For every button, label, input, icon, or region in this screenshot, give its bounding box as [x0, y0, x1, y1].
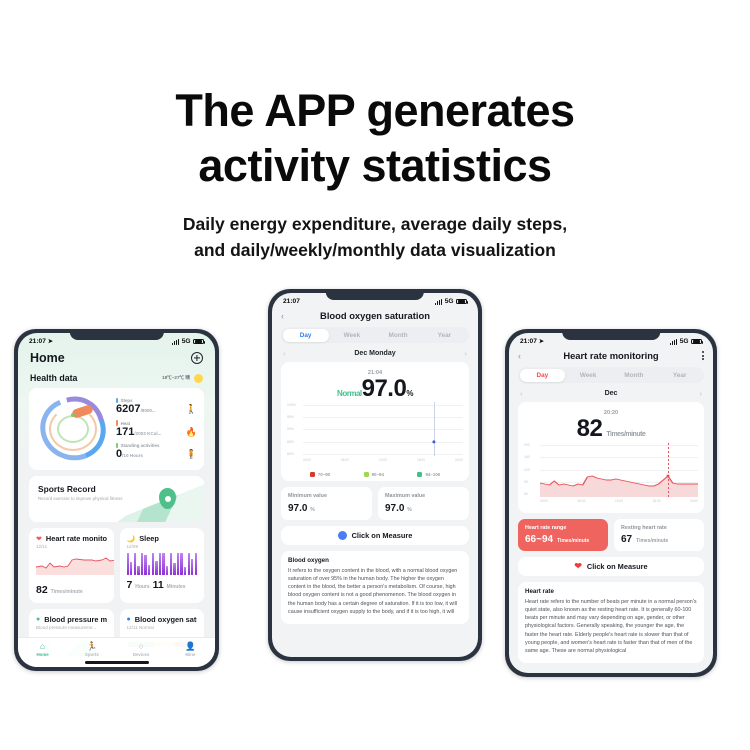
weather-text: 18℃~27℃ 晴: [162, 375, 190, 381]
legend-label-mid: 90~94: [372, 472, 384, 477]
data-point-marker: [433, 440, 436, 443]
legend-swatch-mid: [364, 472, 369, 477]
back-icon[interactable]: ‹: [518, 351, 530, 361]
sleep-minutes-unit: Minutes: [167, 584, 186, 590]
signal-icon: [172, 339, 180, 345]
x-tick-2: 12:00: [379, 458, 387, 468]
segment-day[interactable]: Day: [283, 329, 329, 342]
y-tick-0: 100%: [287, 403, 296, 407]
x-tick-4: 24:00: [690, 499, 698, 509]
period-segmented-control: Day Week Month Year: [518, 367, 704, 383]
heart-rate-card-unit: Times/minute: [51, 589, 83, 595]
maximum-value-label: Maximum value: [385, 493, 462, 500]
home-icon: ⌂: [18, 642, 67, 651]
steps-value-wrap: 6207/8000...: [116, 404, 156, 415]
resting-heart-rate-wrap: 67 Times/minute: [621, 534, 697, 545]
blood-oxygen-band-ticks: ...: [127, 632, 198, 636]
gridline: [303, 442, 463, 443]
heart-icon: ❤: [36, 535, 42, 543]
current-date-label: Dec: [605, 390, 618, 397]
blood-oxygen-icon: ●: [127, 616, 131, 623]
battery-icon: [193, 339, 204, 345]
maximum-value: 97.0: [385, 503, 404, 514]
heart-rate-sparkline: [36, 553, 114, 575]
heart-rate-card-title: Heart rate monitoring: [46, 534, 107, 543]
resting-heart-rate-card: Resting heart rate 67 Times/minute: [614, 519, 704, 551]
y-tick-3: 90: [524, 480, 528, 484]
heat-label: Heat: [121, 421, 131, 426]
heart-measure-icon: ❤: [574, 562, 582, 571]
spo2-stats-row: Minimum value 97.0 % Maximum value 97.0 …: [281, 487, 469, 519]
signal-icon: [435, 299, 443, 305]
sleep-card-date: 12/09: [127, 544, 198, 549]
legend-label-low: 70~90: [318, 472, 330, 477]
x-axis: 00:00 06:00 12:00 18:00 24:00: [540, 499, 698, 509]
segment-year[interactable]: Year: [421, 329, 467, 342]
walking-icon: 🚶: [186, 404, 197, 415]
heart-rate-range-unit: Times/minute: [557, 538, 589, 544]
plot-area: [303, 402, 463, 456]
y-tick-1: 95%: [287, 415, 294, 419]
gridline: [303, 454, 463, 455]
metric-row-heat: Heat 171/2003 KCal... 🔥: [116, 420, 197, 438]
description-text: Heart rate refers to the number of beats…: [525, 598, 697, 655]
legend-swatch-low: [310, 472, 315, 477]
data-point-marker: [666, 475, 669, 478]
location-arrow-icon: ➤: [48, 338, 53, 345]
spo2-chart-card: 21:04 Normal97.0% 100% 95% 90% 85% 80%: [281, 362, 469, 481]
resting-heart-rate-label: Resting heart rate: [621, 525, 697, 532]
tab-mine-label: Mine: [166, 652, 215, 657]
minimum-value: 97.0: [288, 503, 307, 514]
heart-rate-range-wrap: 66~94 Times/minute: [525, 534, 601, 545]
add-icon[interactable]: [191, 352, 203, 364]
reading-value: 97.0: [362, 375, 407, 402]
heart-rate-area-series: [540, 443, 698, 497]
heart-rate-card[interactable]: ❤ Heart rate monitoring 12/11 82 Times/m…: [29, 528, 114, 603]
heat-value-wrap: 171/2003 KCal...: [116, 427, 161, 438]
resting-heart-rate-value: 67: [621, 534, 632, 545]
blood-pressure-icon: ●: [36, 616, 40, 623]
phone-left: 21:07 ➤ 5G Home Health data 18℃~27℃ 晴: [14, 329, 219, 671]
standing-goal: /10 Hours: [122, 453, 143, 458]
minimum-value-wrap: 97.0 %: [288, 503, 365, 514]
spo2-measure-icon: [338, 531, 347, 540]
tab-home-label: Home: [18, 652, 67, 657]
network-label: 5G: [182, 338, 191, 345]
heart-rate-description: Heart rate Heart rate refers to the numb…: [518, 582, 704, 663]
y-tick-4: 60: [524, 492, 528, 496]
sports-icon: 🏃: [67, 642, 116, 651]
legend-item-mid: 90~94: [364, 472, 384, 477]
blood-pressure-card-subtitle: Blood pressure measureme...: [36, 625, 107, 630]
x-tick-4: 24:00: [455, 458, 463, 468]
sun-icon: [194, 374, 203, 383]
resting-heart-rate-unit: Times/minute: [636, 538, 668, 544]
signal-icon: [670, 339, 678, 345]
headline-line-1: The APP generates: [175, 85, 574, 136]
kebab-menu-icon[interactable]: [692, 350, 704, 361]
steps-goal: /8000...: [140, 408, 155, 413]
reading-status-badge: Normal: [337, 389, 362, 398]
sleep-hours-unit: Hours: [135, 584, 149, 590]
steps-value: 6207: [116, 403, 140, 415]
gridline: [303, 429, 463, 430]
metric-row-standing: Standing activities 0/10 Hours 🧍: [116, 443, 197, 461]
home-header: Home: [18, 347, 215, 365]
heart-rate-chart-card: 20:20 82Times/minute 200 160 120 90 60: [518, 402, 704, 512]
status-time: 21:07: [283, 298, 300, 305]
page-title: Heart rate monitoring: [530, 350, 692, 361]
gridline: [303, 405, 463, 406]
reading-value-row: Normal97.0%: [287, 376, 463, 402]
moon-icon: 🌙: [127, 535, 136, 543]
reading-unit: Times/minute: [606, 431, 645, 438]
x-tick-1: 06:00: [578, 499, 586, 509]
legend-item-high: 94~100: [417, 472, 440, 477]
blood-oxygen-description: Blood oxygen It refers to the oxygen con…: [281, 551, 469, 624]
health-data-label: Health data: [30, 373, 77, 383]
tab-sports-label: Sports: [67, 652, 116, 657]
weather-info: 18℃~27℃ 晴: [162, 374, 203, 383]
home-title: Home: [30, 351, 65, 365]
segment-month[interactable]: Month: [375, 329, 421, 342]
status-time: 21:07: [520, 338, 537, 345]
headline-line-2: activity statistics: [0, 139, 750, 194]
heart-rate-stats-row: Heart rate range 66~94 Times/minute Rest…: [518, 519, 704, 551]
headline-block: The APP generates activity statistics Da…: [0, 84, 750, 263]
back-icon[interactable]: ‹: [281, 311, 293, 321]
page-title: Blood oxygen saturation: [293, 310, 457, 321]
sleep-card-title: Sleep: [139, 534, 159, 543]
devices-icon: ○: [117, 642, 166, 651]
phone-center-screen: 21:07 5G ‹ Blood oxygen saturation Day W…: [272, 293, 478, 657]
spo2-chart: 100% 95% 90% 85% 80%: [287, 402, 463, 468]
subtitle-line-2: and daily/weekly/monthly data visualizat…: [0, 237, 750, 263]
y-tick-3: 85%: [287, 440, 294, 444]
y-axis: 200 160 120 90 60: [524, 443, 540, 497]
battery-icon: [456, 299, 467, 305]
measure-button[interactable]: ❤ Click on Measure: [518, 557, 704, 576]
segment-day[interactable]: Day: [520, 369, 566, 382]
heat-goal: /2003 KCal...: [134, 431, 161, 436]
blood-oxygen-card-date: 12/11 Normal: [127, 625, 198, 630]
app-bar: ‹ Blood oxygen saturation: [272, 307, 478, 327]
tab-sports[interactable]: 🏃 Sports: [67, 642, 116, 658]
tab-devices[interactable]: ○ Devices: [117, 642, 166, 658]
blood-oxygen-card-title: Blood oxygen satur: [135, 615, 197, 624]
maximum-value-unit: %: [407, 507, 411, 513]
minimum-value-label: Minimum value: [288, 493, 365, 500]
subtitle-line-1: Daily energy expenditure, average daily …: [0, 211, 750, 237]
x-tick-3: 18:00: [653, 499, 661, 509]
status-time: 21:07: [29, 338, 46, 345]
phone-right: 21:07 ➤ 5G ‹ Heart rate monitoring Day W…: [505, 329, 717, 677]
app-bar: ‹ Heart rate monitoring: [509, 347, 713, 367]
heart-rate-reading: 20:20 82Times/minute: [524, 408, 698, 442]
phone-notch: [69, 329, 163, 340]
heat-value: 171: [116, 426, 134, 438]
segment-year[interactable]: Year: [657, 369, 703, 382]
sleep-minutes-value: 11: [153, 579, 164, 591]
description-text: It refers to the oxygen content in the b…: [288, 567, 462, 616]
sleep-card[interactable]: 🌙 Sleep 12/09 7 Hours 11: [120, 528, 205, 603]
x-tick-2: 12:00: [615, 499, 623, 509]
promo-page: The APP generates activity statistics Da…: [0, 0, 750, 750]
sleep-bars-chart: [127, 553, 198, 575]
phone-left-screen: 21:07 ➤ 5G Home Health data 18℃~27℃ 晴: [18, 333, 215, 667]
reading-unit: %: [406, 389, 413, 398]
spo2-reading: 21:04 Normal97.0%: [287, 368, 463, 402]
standing-ring-cap: [71, 413, 75, 417]
sports-record-card[interactable]: Sports Record Record exercise to improve…: [29, 476, 204, 522]
prev-date-arrow[interactable]: ‹: [520, 389, 523, 398]
maximum-value-card: Maximum value 97.0 %: [378, 487, 469, 519]
steps-label: Steps: [121, 398, 133, 403]
next-date-arrow[interactable]: ›: [464, 349, 467, 358]
activity-rings: [36, 396, 110, 462]
flame-icon: 🔥: [186, 427, 197, 438]
prev-date-arrow[interactable]: ‹: [283, 349, 286, 358]
x-tick-3: 18:00: [417, 458, 425, 468]
heart-rate-card-value: 82: [36, 584, 48, 596]
tab-home[interactable]: ⌂ Home: [18, 642, 67, 658]
x-tick-0: 00:00: [303, 458, 311, 468]
description-title: Blood oxygen: [288, 557, 462, 564]
heart-rate-chart: 200 160 120 90 60: [524, 443, 698, 509]
heart-rate-card-date: 12/11: [36, 544, 107, 549]
y-tick-0: 200: [524, 443, 530, 447]
legend-swatch-high: [417, 472, 422, 477]
metric-row-steps: Steps 6207/8000... 🚶: [116, 398, 197, 416]
summary-cards-row-1: ❤ Heart rate monitoring 12/11 82 Times/m…: [29, 528, 204, 603]
y-tick-2: 90%: [287, 427, 294, 431]
gridline: [303, 417, 463, 418]
chart-legend: 70~90 90~94 94~100: [287, 468, 463, 477]
network-label: 5G: [680, 338, 689, 345]
maximum-value-wrap: 97.0 %: [385, 503, 462, 514]
tab-mine[interactable]: 👤 Mine: [166, 642, 215, 658]
heart-rate-range-value: 66~94: [525, 534, 553, 545]
tab-devices-label: Devices: [117, 652, 166, 657]
reading-value: 82: [577, 415, 603, 442]
minimum-value-card: Minimum value 97.0 %: [281, 487, 372, 519]
period-segmented-control: Day Week Month Year: [281, 327, 469, 343]
heart-rate-range-label: Heart rate range: [525, 525, 601, 532]
date-navigator: ‹ Dec ›: [509, 383, 713, 398]
phone-center: 21:07 5G ‹ Blood oxygen saturation Day W…: [268, 289, 482, 661]
legend-label-high: 94~100: [425, 472, 440, 477]
description-title: Heart rate: [525, 588, 697, 595]
x-axis: 00:00 06:00 12:00 18:00 24:00: [303, 458, 463, 468]
segment-week[interactable]: Week: [329, 329, 375, 342]
x-tick-1: 06:00: [341, 458, 349, 468]
measure-button-label: Click on Measure: [587, 562, 648, 571]
reading-value-row: 82Times/minute: [524, 416, 698, 442]
phone-notch: [326, 289, 424, 300]
date-navigator: ‹ Dec Monday ›: [272, 343, 478, 358]
y-tick-4: 80%: [287, 452, 294, 456]
heart-rate-range-card: Heart rate range 66~94 Times/minute: [518, 519, 608, 551]
phone-right-screen: 21:07 ➤ 5G ‹ Heart rate monitoring Day W…: [509, 333, 713, 673]
selection-line: [668, 443, 669, 497]
phone-notch: [562, 329, 660, 340]
minimum-value-unit: %: [310, 507, 314, 513]
measure-button-label: Click on Measure: [352, 531, 413, 540]
next-date-arrow[interactable]: ›: [700, 389, 703, 398]
location-arrow-icon: ➤: [539, 338, 544, 345]
standing-value-wrap: 0/10 Hours: [116, 449, 159, 460]
current-date-label: Dec Monday: [354, 350, 395, 357]
page-subtitle: Daily energy expenditure, average daily …: [0, 211, 750, 264]
standing-label: Standing activities: [121, 443, 160, 448]
standing-ring: [57, 415, 89, 443]
battery-icon: [691, 339, 702, 345]
legend-item-low: 70~90: [310, 472, 330, 477]
selection-line: [434, 402, 435, 456]
network-label: 5G: [445, 298, 454, 305]
profile-icon: 👤: [166, 642, 215, 651]
page-title: The APP generates activity statistics: [0, 84, 750, 194]
blood-pressure-card-title: Blood pressure mon: [44, 615, 106, 624]
home-indicator: [85, 661, 149, 664]
segment-month[interactable]: Month: [611, 369, 657, 382]
sleep-hours-value: 7: [127, 579, 133, 591]
plot-area: [540, 443, 698, 497]
y-tick-2: 120: [524, 468, 530, 472]
y-axis: 100% 95% 90% 85% 80%: [287, 402, 303, 456]
measure-button[interactable]: Click on Measure: [281, 526, 469, 545]
standing-person-icon: 🧍: [186, 449, 197, 460]
y-tick-1: 160: [524, 455, 530, 459]
segment-week[interactable]: Week: [565, 369, 611, 382]
x-tick-0: 00:00: [540, 499, 548, 509]
health-data-card[interactable]: Steps 6207/8000... 🚶 Heat: [29, 388, 204, 470]
health-data-header: Health data 18℃~27℃ 晴: [18, 365, 215, 388]
